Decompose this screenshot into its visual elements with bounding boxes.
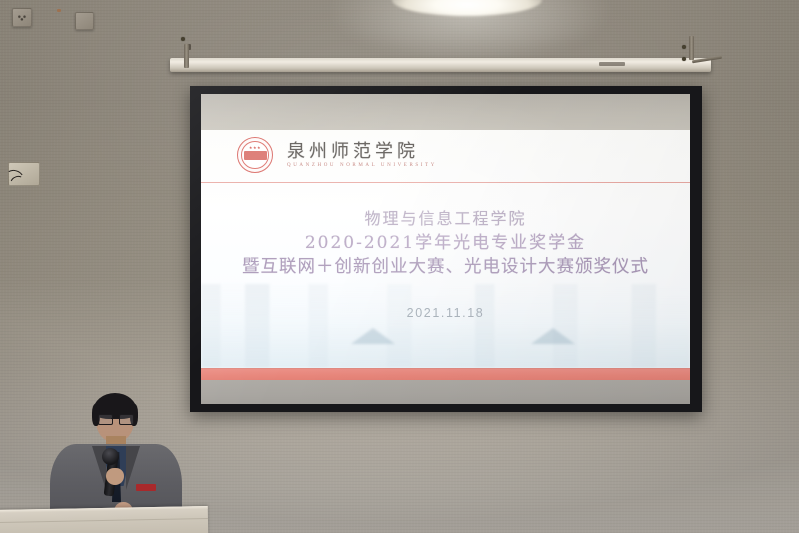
seal-stars: ★★★ xyxy=(238,145,272,150)
campus-background-photo xyxy=(201,284,690,368)
wall-mark-center xyxy=(57,9,61,12)
glasses-icon xyxy=(98,414,132,423)
title-line-1: 物理与信息工程学院 xyxy=(201,208,690,231)
slide-header: ★★★ 泉州师范学院 QUANZHOU NORMAL UNIVERSITY xyxy=(201,130,690,180)
header-divider-rule xyxy=(201,182,690,183)
projector-screen-frame: ★★★ 泉州师范学院 QUANZHOU NORMAL UNIVERSITY 物理… xyxy=(190,86,702,412)
university-seal-icon: ★★★ xyxy=(237,137,273,173)
presenter-badge xyxy=(136,484,156,491)
projector-screen-roller[interactable] xyxy=(170,58,711,72)
roller-brand-label xyxy=(599,62,625,66)
title-line-3: 暨互联网＋创新创业大赛、光电设计大赛颁奖仪式 xyxy=(201,255,690,280)
glasses-bridge xyxy=(111,418,119,419)
projection-letterbox-band xyxy=(201,94,690,130)
seal-band xyxy=(244,151,267,160)
university-name-cn: 泉州师范学院 xyxy=(287,142,437,162)
socket-holes xyxy=(17,14,28,21)
presenter-hand-holding-mic xyxy=(106,468,124,485)
university-name-block: 泉州师范学院 QUANZHOU NORMAL UNIVERSITY xyxy=(287,142,437,169)
presentation-slide: ★★★ 泉州师范学院 QUANZHOU NORMAL UNIVERSITY 物理… xyxy=(201,130,690,404)
roller-bracket-right xyxy=(689,36,694,60)
glasses-lens-right xyxy=(119,414,134,425)
slide-title-block: 物理与信息工程学院 2020-2021学年光电专业奖学金 暨互联网＋创新创业大赛… xyxy=(201,208,690,280)
mount-screw-b xyxy=(682,57,686,61)
slide-grey-band xyxy=(201,380,690,404)
university-name-en: QUANZHOU NORMAL UNIVERSITY xyxy=(287,163,437,168)
glasses-lens-left xyxy=(98,414,113,425)
lectern-seam xyxy=(0,518,208,523)
title-line-2: 2020-2021学年光电专业奖学金 xyxy=(201,231,690,255)
projection-surface: ★★★ 泉州师范学院 QUANZHOU NORMAL UNIVERSITY 物理… xyxy=(201,94,690,404)
slide-date: 2021.11.18 xyxy=(201,306,690,320)
lectern xyxy=(0,506,208,533)
lecture-hall-photo: ★★★ 泉州师范学院 QUANZHOU NORMAL UNIVERSITY 物理… xyxy=(0,0,799,533)
mount-screw-c xyxy=(181,37,185,41)
campus-roof-shape-a xyxy=(351,328,395,344)
wall-plate-upper xyxy=(75,12,94,30)
wall-socket-plate-left xyxy=(12,8,32,27)
mount-screw-a xyxy=(682,45,686,49)
campus-roof-shape-b xyxy=(531,328,575,344)
roller-bracket-left xyxy=(184,44,189,68)
slide-coral-band xyxy=(201,369,690,380)
